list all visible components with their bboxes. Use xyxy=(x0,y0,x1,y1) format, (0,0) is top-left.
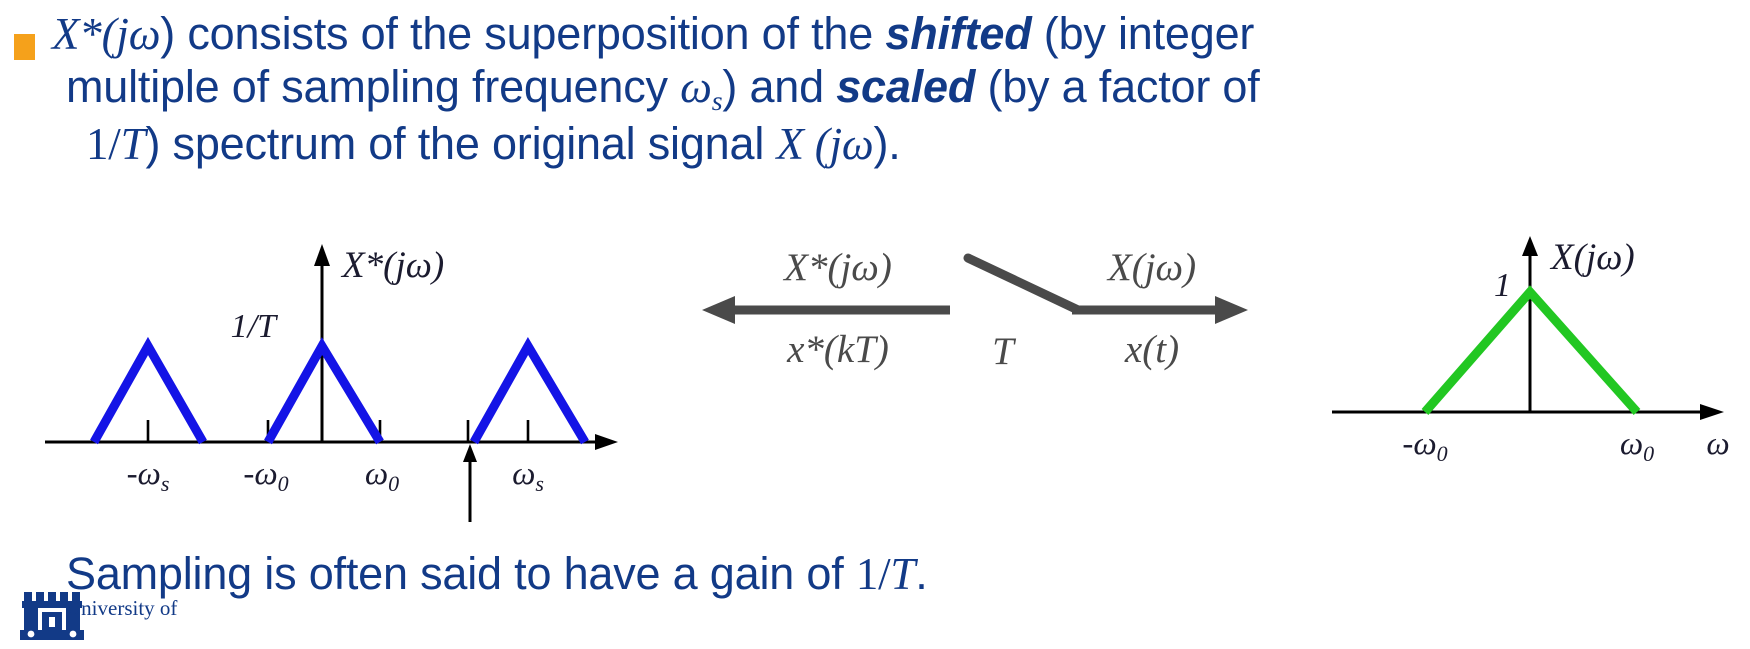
bullet-paragraph: X*(jω) consists of the superposition of … xyxy=(14,8,1744,171)
bullet-l3-frac: 1/ xyxy=(86,119,121,169)
bullet-line-1: X*(jω) consists of the superposition of … xyxy=(52,8,1744,61)
bottom-text-b: . xyxy=(915,548,927,599)
x-axis-arrowhead-icon-right xyxy=(1700,404,1724,420)
chart-title-sampled: X*(jω) xyxy=(340,245,444,286)
sampler-switch-icon xyxy=(968,258,1078,310)
label-X-star-j-omega: X*(jω) xyxy=(782,246,892,289)
label-x-star-kT: x*(kT) xyxy=(786,328,889,371)
bullet-l1-text-c: (by integer xyxy=(1031,8,1254,59)
right-arrow-icon xyxy=(1072,296,1248,324)
chart-title-original: X(jω) xyxy=(1549,237,1635,278)
left-arrow-icon xyxy=(702,296,950,324)
y-peak-label-one-over-T: 1/T xyxy=(231,308,278,345)
bullet-l2-omega-sub: s xyxy=(712,85,723,116)
bullet-line-2: multiple of sampling frequency ωs) and s… xyxy=(52,61,1744,118)
sampling-spectrum-diagram: X*(jω) 1/T -ωs -ω0 ω0 ωs (ωs – ω0) X*(jω… xyxy=(0,232,1750,532)
bullet-text: X*(jω) consists of the superposition of … xyxy=(52,8,1744,171)
callout-arrow-omega-s-minus-omega-0 xyxy=(463,444,477,522)
logo-caption: University of xyxy=(66,596,177,621)
bottom-frac: 1/ xyxy=(856,549,891,599)
tick-label-neg-omega-0: -ω0 xyxy=(243,456,288,496)
tick-label-neg-omega-0-right: -ω0 xyxy=(1402,426,1447,466)
x-axis-arrowhead-icon xyxy=(595,434,618,450)
bullet-l1-text-b: ) consists of the superposition of the xyxy=(160,8,885,59)
bullet-l3-X: X xyxy=(776,119,803,169)
bullet-l3-T: T xyxy=(121,119,146,169)
label-X-j-omega: X(jω) xyxy=(1106,246,1196,289)
bottom-T: T xyxy=(890,549,915,599)
label-x-of-t: x(t) xyxy=(1124,328,1179,371)
tick-label-pos-omega-s: ωs xyxy=(512,456,544,496)
bullet-l2-omega: ω xyxy=(680,62,712,112)
chart-original-spectrum: X(jω) 1 -ω0 ω0 ω xyxy=(1332,236,1730,466)
bullet-l3-text-b: ) spectrum of the original signal xyxy=(145,118,776,169)
bullet-marker-icon xyxy=(14,34,35,60)
bullet-l3-omega: ω xyxy=(842,119,874,169)
signal-flow-middle: X*(jω) x*(kT) T X(jω) x(t) xyxy=(702,246,1248,373)
y-peak-label-one: 1 xyxy=(1494,267,1511,304)
bullet-l1-omega: ω xyxy=(129,9,161,59)
triangle-baseband xyxy=(268,346,380,442)
tick-label-neg-omega-s: -ωs xyxy=(127,456,170,496)
bullet-l3-text-c: (j xyxy=(804,119,842,169)
bullet-l3-text-d: ). xyxy=(873,118,900,169)
bullet-l1-math-a: X*(j xyxy=(52,9,129,59)
tick-label-pos-omega-0-right: ω0 xyxy=(1620,426,1654,466)
axis-label-omega: ω xyxy=(1706,426,1729,462)
bullet-l2-bold-scaled: scaled xyxy=(836,61,975,112)
triangle-replica-positive xyxy=(474,346,585,442)
chart-sampled-spectrum: X*(jω) 1/T -ωs -ω0 ω0 ωs (ωs – ω0) xyxy=(45,244,618,532)
y-axis-arrowhead-icon xyxy=(314,244,330,266)
bullet-l1-bold-shifted: shifted xyxy=(885,8,1031,59)
label-sampling-period-T: T xyxy=(992,330,1016,373)
bullet-l2-text-c: (by a factor of xyxy=(975,61,1259,112)
bullet-line-3: 1/T) spectrum of the original signal X (… xyxy=(52,118,1744,171)
tick-label-pos-omega-0: ω0 xyxy=(365,456,399,496)
bullet-l2-text-b: ) and xyxy=(722,61,836,112)
bullet-l2-text-a: multiple of sampling frequency xyxy=(66,61,680,112)
y-axis-arrowhead-icon-right xyxy=(1522,236,1538,256)
